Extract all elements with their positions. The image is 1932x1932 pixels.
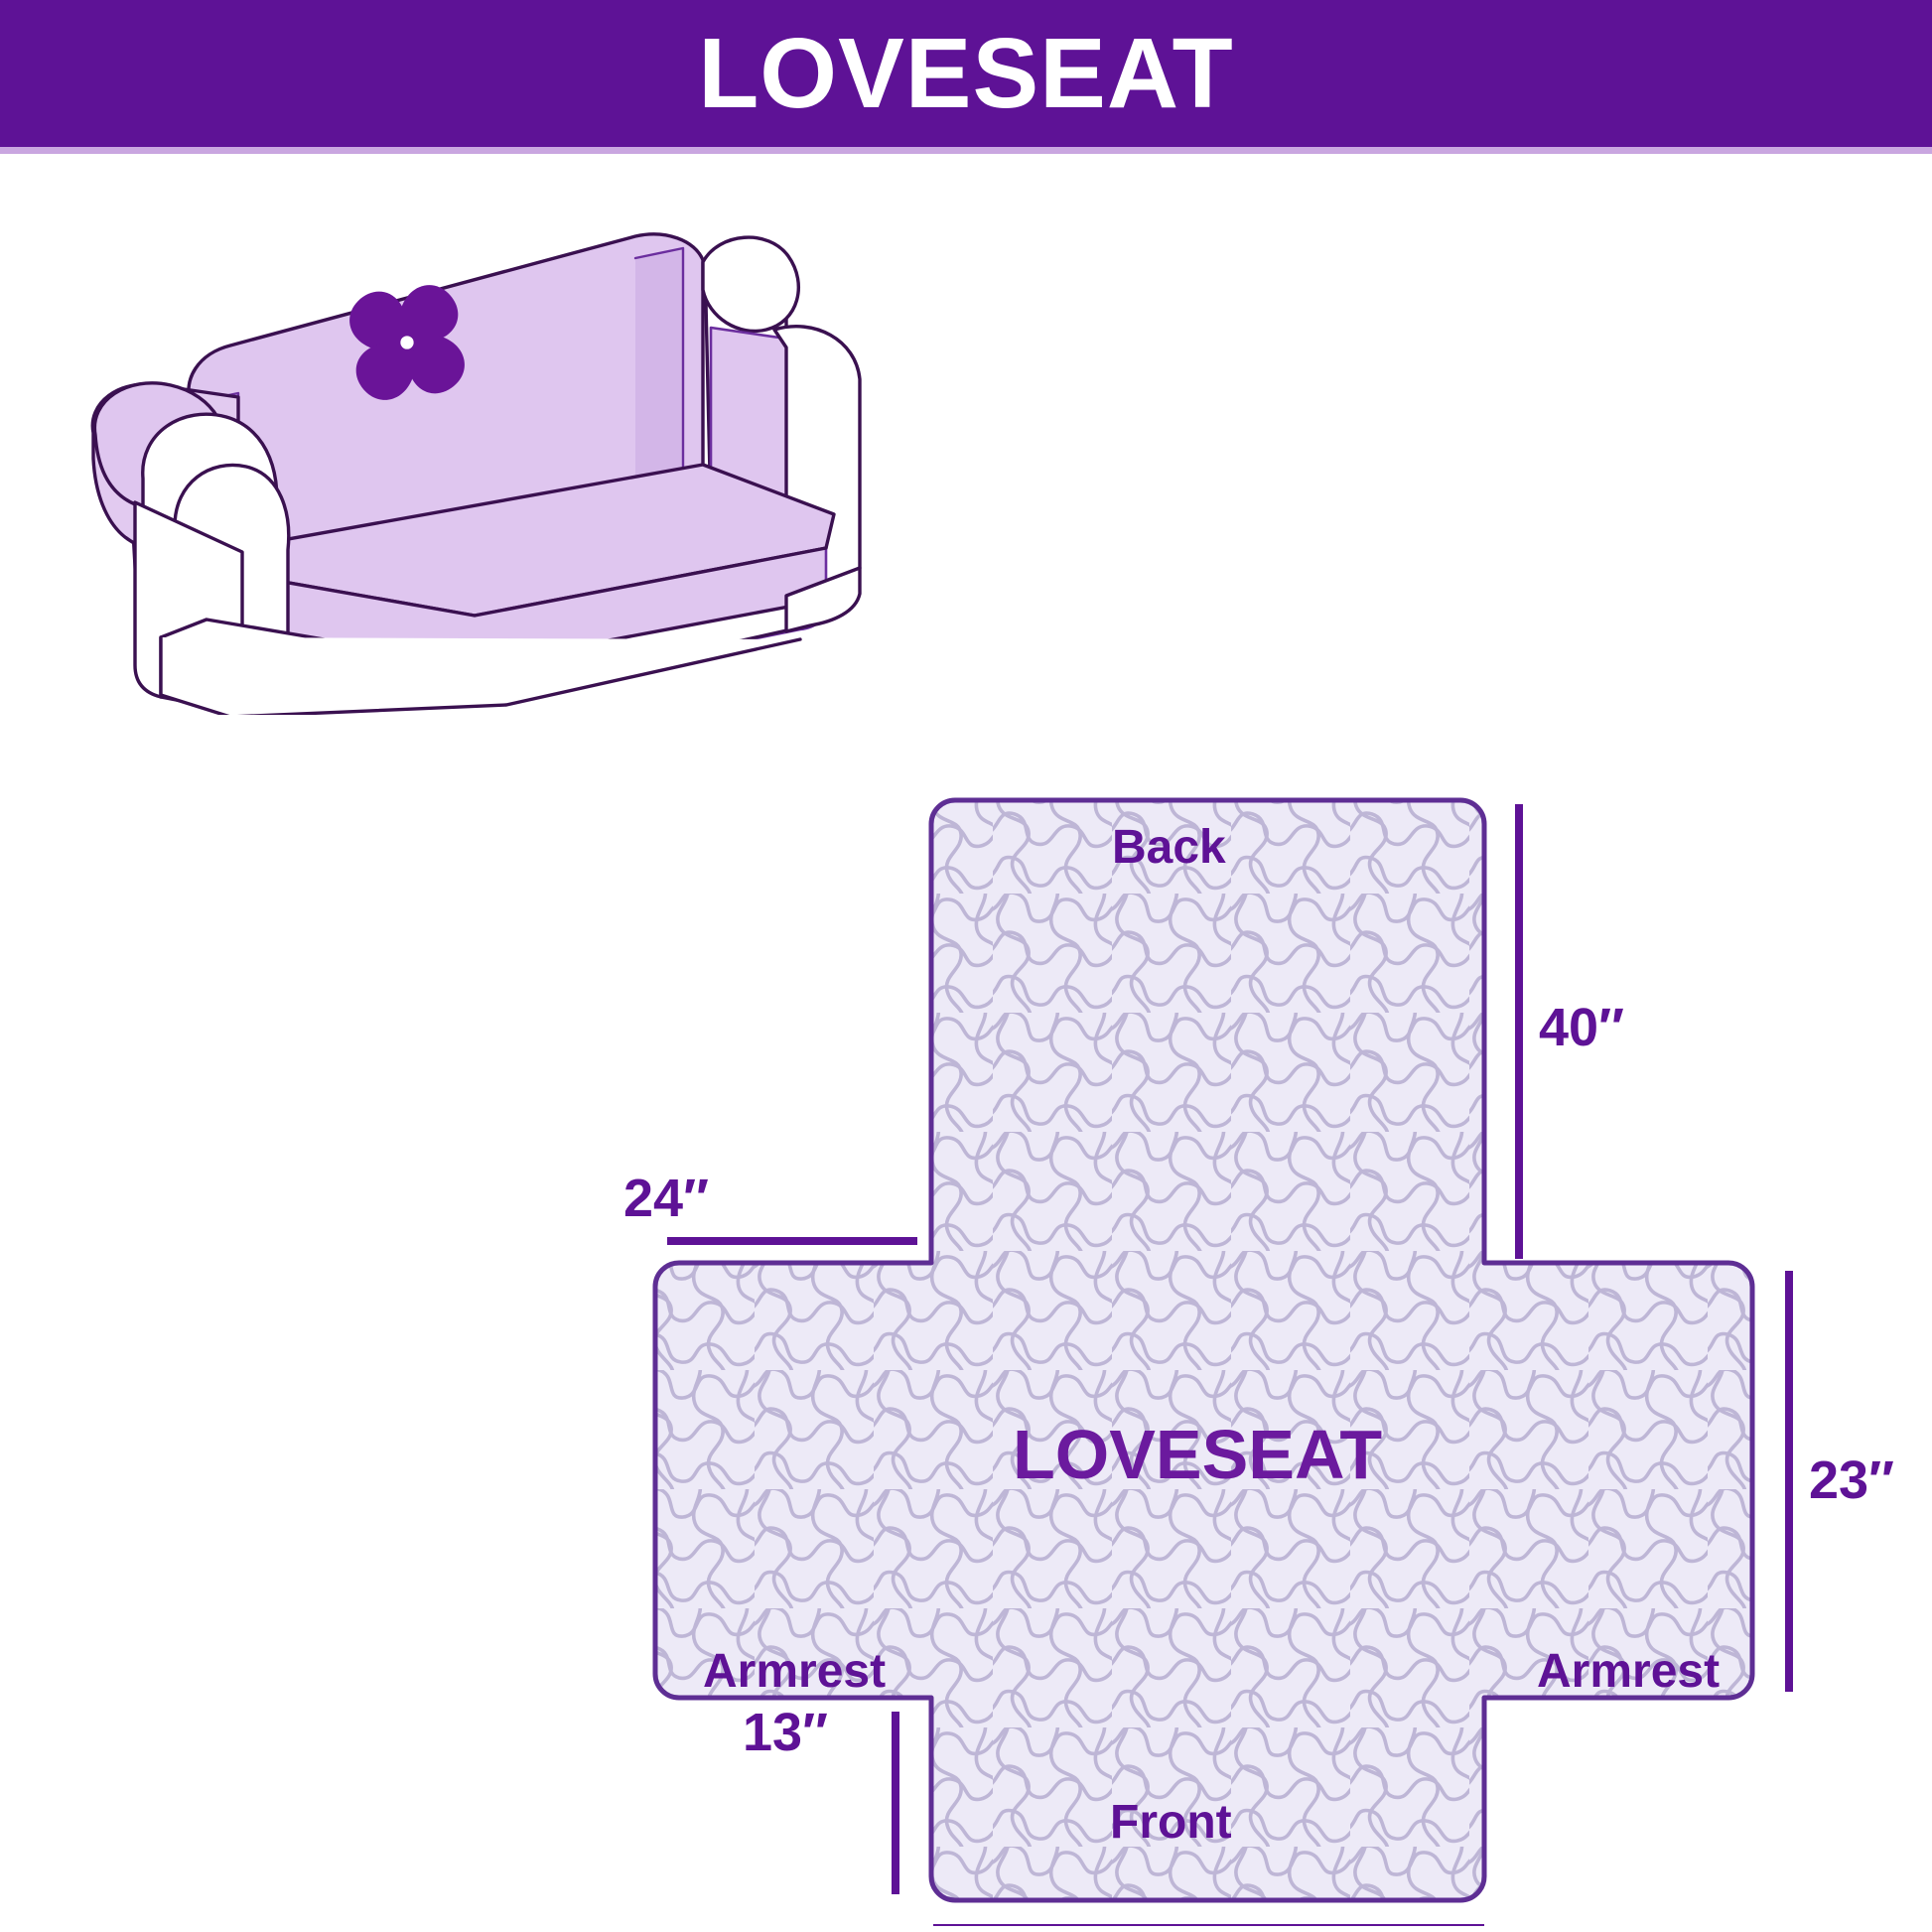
panel-label-armrest-left: Armrest <box>703 1648 886 1696</box>
pinwheel-fan-logo <box>349 285 465 400</box>
dimension-label-40: 40″ <box>1539 1001 1624 1054</box>
panel-label-armrest-right: Armrest <box>1537 1648 1720 1696</box>
panel-label-front: Front <box>1110 1799 1232 1847</box>
page-title: LOVESEAT <box>698 24 1234 123</box>
dimension-label-13: 13″ <box>743 1706 828 1759</box>
loveseat-sofa-illustration <box>79 199 913 715</box>
dimension-label-23: 23″ <box>1809 1453 1894 1507</box>
dimension-label-24: 24″ <box>623 1172 709 1225</box>
product-dimension-infographic: LOVESEAT <box>0 0 1932 1932</box>
cover-pattern-diagram: 24″ 40″ 23″ 13″ 46 Back Front Armrest Ar… <box>516 774 1926 1926</box>
panel-label-center-loveseat: LOVESEAT <box>1013 1420 1382 1489</box>
header-underline-divider <box>0 147 1932 154</box>
panel-label-back: Back <box>1112 824 1226 872</box>
header-banner: LOVESEAT <box>0 0 1932 147</box>
